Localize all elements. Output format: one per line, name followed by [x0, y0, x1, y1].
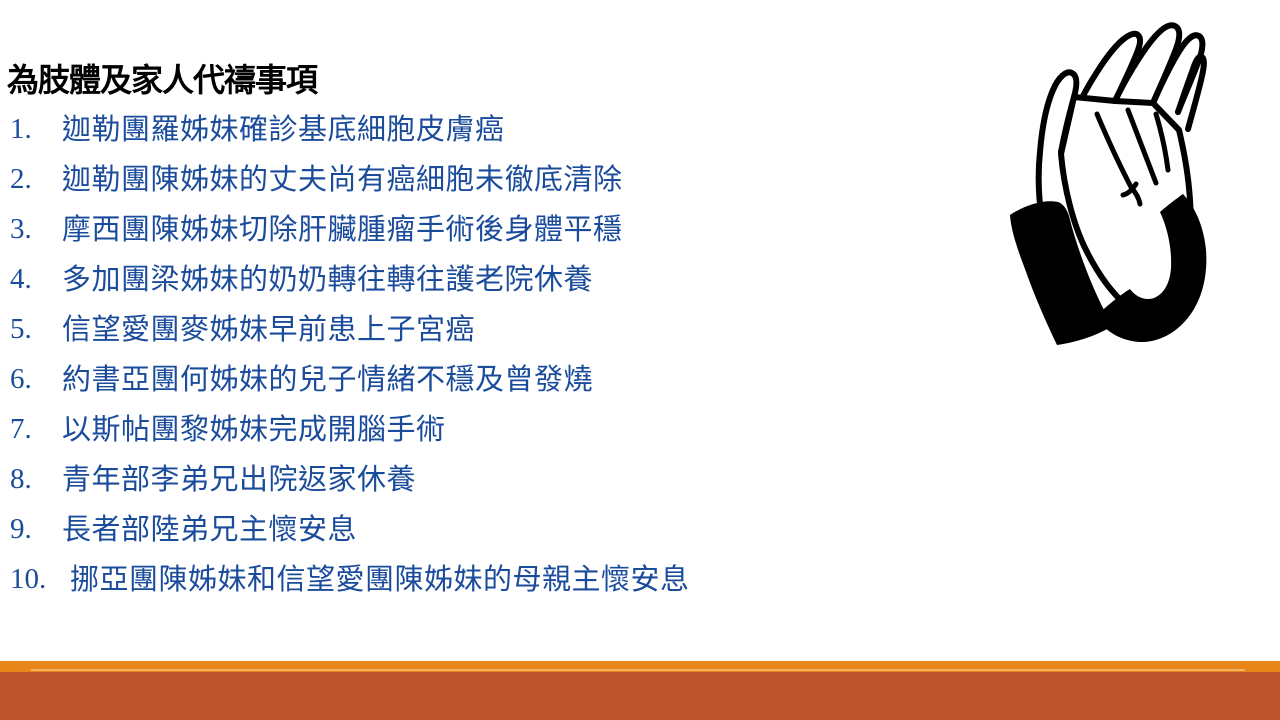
list-item: 7. 以斯帖團黎姊妹完成開腦手術	[0, 404, 930, 454]
list-item-text: 約書亞團何姊妹的兒子情緒不穩及曾發燒	[62, 354, 593, 404]
list-item: 9. 長者部陸弟兄主懷安息	[0, 504, 930, 554]
presentation-slide: 為肢體及家人代禱事項 1. 迦勒團羅姊妹確診基底細胞皮膚癌 2. 迦勒團陳姊妹的…	[0, 0, 1280, 720]
list-item-number: 5.	[10, 304, 58, 354]
list-item-number: 3.	[10, 204, 58, 254]
list-item-text: 迦勒團羅姊妹確診基底細胞皮膚癌	[62, 104, 505, 154]
list-item: 10. 挪亞團陳姊妹和信望愛團陳姊妹的母親主懷安息	[0, 554, 930, 604]
list-item-text: 長者部陸弟兄主懷安息	[62, 504, 357, 554]
list-item: 8. 青年部李弟兄出院返家休養	[0, 454, 930, 504]
list-item: 6. 約書亞團何姊妹的兒子情緒不穩及曾發燒	[0, 354, 930, 404]
list-item-number: 7.	[10, 404, 58, 454]
list-item-text: 迦勒團陳姊妹的丈夫尚有癌細胞未徹底清除	[62, 154, 623, 204]
list-item-text: 摩西團陳姊妹切除肝臟腫瘤手術後身體平穩	[62, 204, 623, 254]
footer-body-inner	[3, 672, 1277, 720]
list-item-text: 挪亞團陳姊妹和信望愛團陳姊妹的母親主懷安息	[70, 554, 690, 604]
list-item: 1. 迦勒團羅姊妹確診基底細胞皮膚癌	[0, 104, 930, 154]
list-item-number: 10.	[10, 554, 66, 604]
list-item-number: 4.	[10, 254, 58, 304]
list-item-text: 信望愛團麥姊妹早前患上子宮癌	[62, 304, 475, 354]
footer-body-bar	[0, 672, 1280, 720]
list-item-number: 8.	[10, 454, 58, 504]
list-item-number: 6.	[10, 354, 58, 404]
praying-hands-icon	[940, 2, 1240, 352]
list-item-text: 青年部李弟兄出院返家休養	[62, 454, 416, 504]
list-item-text: 多加團梁姊妹的奶奶轉往轉往護老院休養	[62, 254, 593, 304]
page-title: 為肢體及家人代禱事項	[7, 61, 317, 99]
footer-hairline	[31, 669, 1245, 671]
list-item: 2. 迦勒團陳姊妹的丈夫尚有癌細胞未徹底清除	[0, 154, 930, 204]
list-item-number: 1.	[10, 104, 58, 154]
prayer-request-list: 1. 迦勒團羅姊妹確診基底細胞皮膚癌 2. 迦勒團陳姊妹的丈夫尚有癌細胞未徹底清…	[0, 104, 930, 604]
list-item-number: 2.	[10, 154, 58, 204]
footer-decoration	[0, 661, 1280, 720]
list-item-number: 9.	[10, 504, 58, 554]
list-item: 5. 信望愛團麥姊妹早前患上子宮癌	[0, 304, 930, 354]
list-item: 3. 摩西團陳姊妹切除肝臟腫瘤手術後身體平穩	[0, 204, 930, 254]
list-item: 4. 多加團梁姊妹的奶奶轉往轉往護老院休養	[0, 254, 930, 304]
list-item-text: 以斯帖團黎姊妹完成開腦手術	[62, 404, 446, 454]
